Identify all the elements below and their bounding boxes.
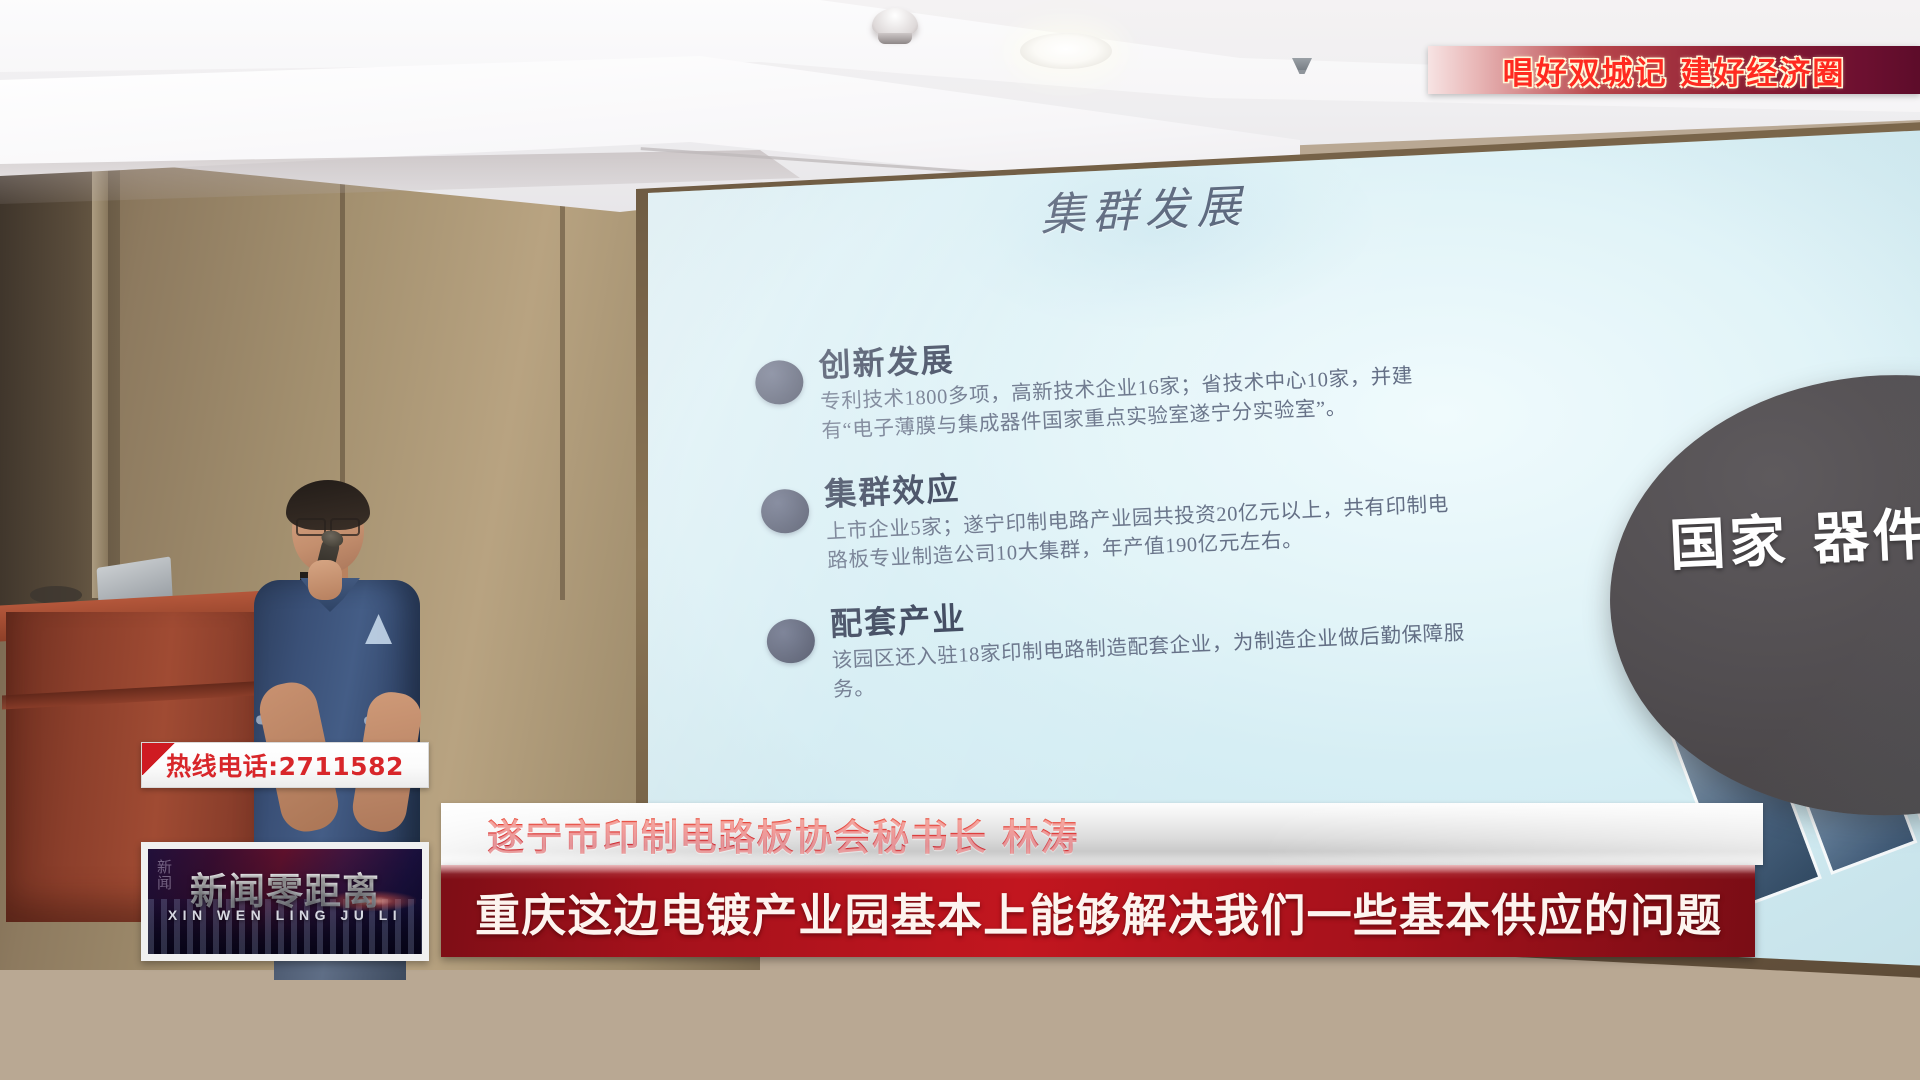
program-logo-art: 新闻 新闻零距离 XIN WEN LING JU LI [148,849,422,954]
slide-bullet-item: 创新发展 专利技术1800多项，高新技术企业16家；省技术中心10家，并建有“电… [688,316,1552,453]
bullet-dot-icon [754,359,804,405]
subtitle-bar-highlight [441,865,1755,874]
smoke-detector-icon [872,8,918,38]
ceiling-light [1020,33,1112,69]
broadcast-frame: 集群发展 创新发展 专利技术1800多项，高新技术企业16家；省技术中心10家，… [0,0,1920,1080]
presenter-hand [308,560,342,600]
program-logo: 新闻 新闻零距离 XIN WEN LING JU LI [141,842,429,961]
slide-oval-label: 国家 器件 [1668,501,1920,581]
speaker-name-text: 遂宁市印制电路板协会秘书长 林涛 [487,807,1079,861]
program-logo-sidemark: 新闻 [154,859,175,891]
campaign-banner: 唱好双城记 建好经济圈 [1428,46,1920,94]
slide-title: 集群发展 [1039,169,1250,243]
slide-bullet-list: 创新发展 专利技术1800多项，高新技术企业16家；省技术中心10家，并建有“电… [688,316,1564,742]
subtitle-text: 重庆这边电镀产业园基本上能够解决我们一些基本供应的问题 [475,879,1722,944]
bullet-dot-icon [760,489,810,535]
slide-bullet-item: 配套产业 该园区还入驻18家印制电路制造配套企业，为制造企业做后勤保障服务。 [700,575,1564,712]
program-logo-pinyin: XIN WEN LING JU LI [168,907,402,923]
speaker-name-bar: 遂宁市印制电路板协会秘书长 林涛 [441,803,1763,865]
hotline-text: 热线电话:2711582 [166,747,404,783]
slide-oval-graphic: 国家 器件 [1600,363,1920,827]
slide-bullet-item: 集群效应 上市企业5家；遂宁印制电路产业园共投资20亿元以上，共有印制电路板专业… [694,445,1558,582]
campaign-banner-text: 唱好双城记 建好经济圈 [1503,48,1846,93]
subtitle-bar: 重庆这边电镀产业园基本上能够解决我们一些基本供应的问题 [441,865,1755,957]
bullet-dot-icon [766,618,816,664]
hotline-box: 热线电话:2711582 [141,742,429,788]
